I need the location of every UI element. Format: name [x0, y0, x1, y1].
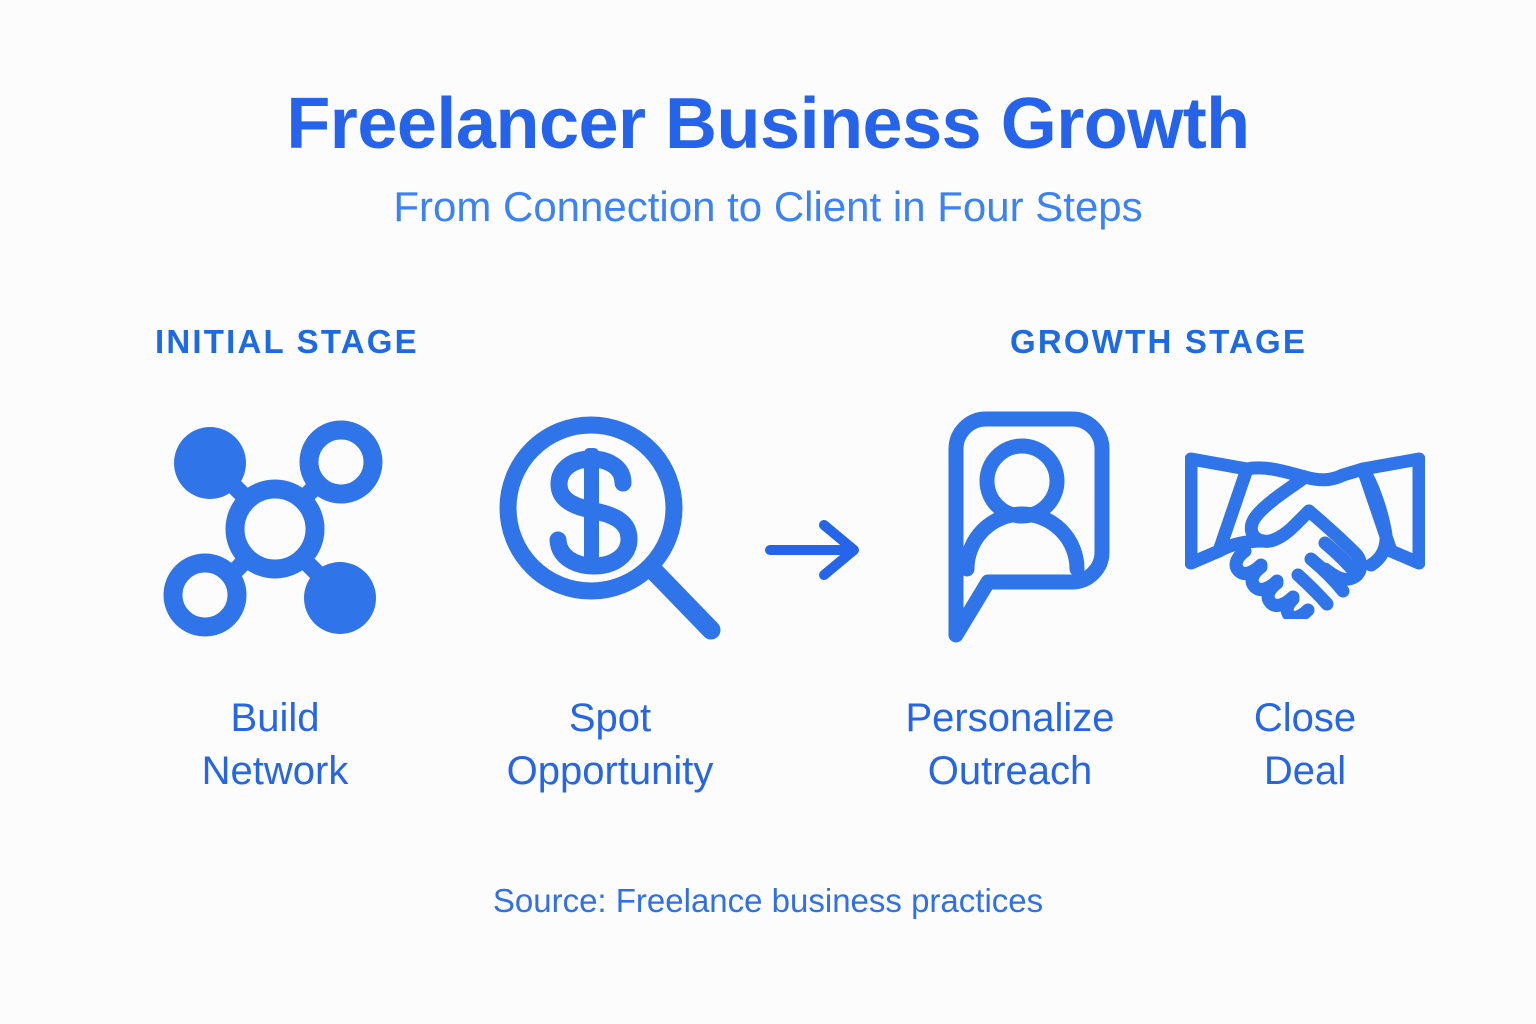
- page-subtitle: From Connection to Client in Four Steps: [0, 186, 1536, 228]
- source-note: Source: Freelance business practices: [0, 884, 1536, 917]
- page-title: Freelancer Business Growth: [0, 88, 1536, 160]
- step-caption: Close Deal: [1150, 692, 1460, 798]
- step-caption: Spot Opportunity: [455, 692, 765, 798]
- stage-label-initial: INITIAL STAGE: [155, 325, 419, 358]
- step-close-deal: Close Deal: [1170, 404, 1440, 824]
- magnifier-dollar-icon: [475, 404, 745, 654]
- step-personalize-outreach: Personalize Outreach: [875, 404, 1145, 824]
- stage-label-growth: GROWTH STAGE: [1010, 325, 1307, 358]
- arrow-right-icon: [762, 505, 872, 595]
- infographic-canvas: Freelancer Business Growth From Connecti…: [0, 0, 1536, 1024]
- steps-row: Build Network Spot Opportunity: [120, 404, 1440, 824]
- handshake-icon: [1170, 404, 1440, 654]
- network-nodes-icon: [140, 404, 410, 654]
- step-build-network: Build Network: [140, 404, 410, 824]
- step-spot-opportunity: Spot Opportunity: [475, 404, 745, 824]
- step-caption: Personalize Outreach: [855, 692, 1165, 798]
- step-caption: Build Network: [120, 692, 430, 798]
- speech-bubble-person-icon: [875, 404, 1145, 654]
